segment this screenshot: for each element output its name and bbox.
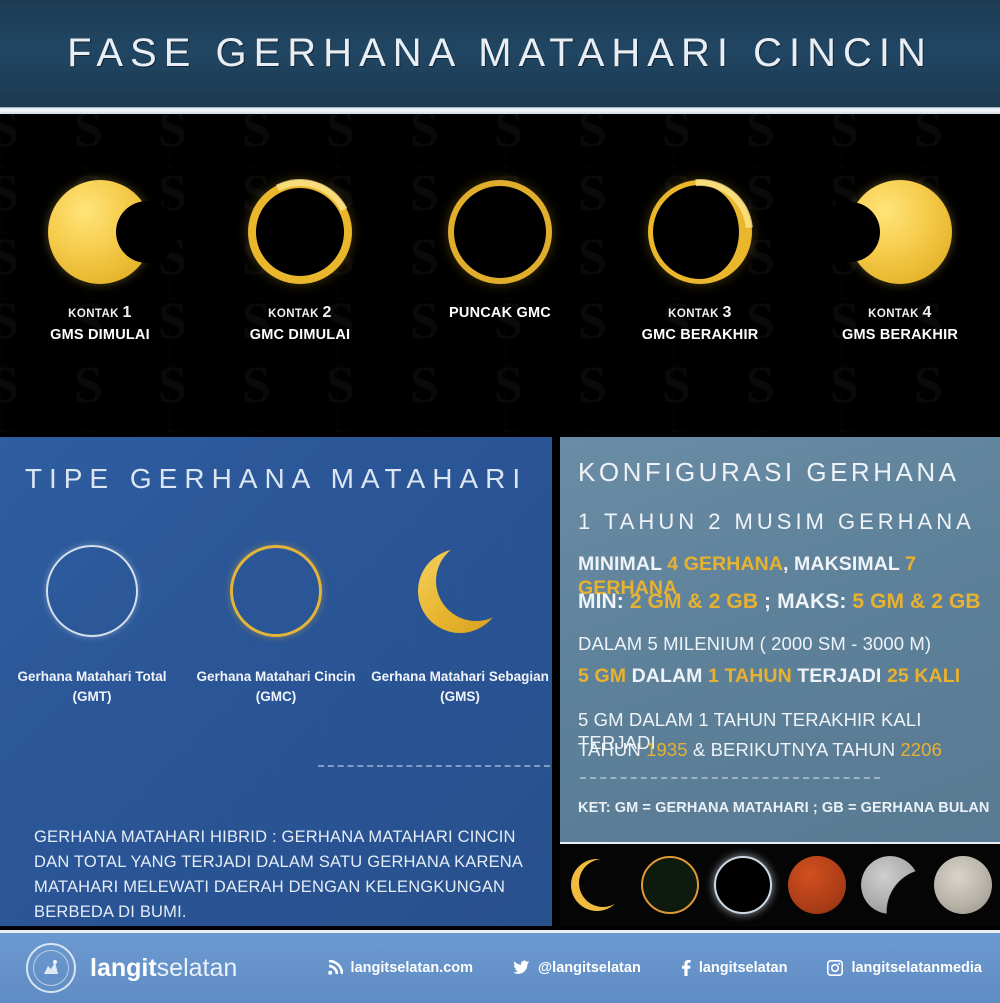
header-bar: FASE GERHANA MATAHARI CINCIN [0, 0, 1000, 108]
legend-note: KET: GM = GERHANA MATAHARI ; GB = GERHAN… [578, 800, 990, 816]
total-corona-ring-icon [46, 545, 138, 637]
type-item-partial: Gerhana Matahari Sebagian (GMS) [368, 545, 552, 706]
phase-kontak-number: 1 [123, 304, 132, 321]
type-abbr: (GMT) [17, 687, 166, 707]
instagram-icon [827, 960, 843, 976]
highlight-max-types: 5 GM & 2 GB [852, 590, 980, 613]
langitselatan-seal-logo [26, 943, 76, 993]
annular-gold-ring-icon [230, 545, 322, 637]
types-panel-title: TIPE GERHANA MATAHARI [0, 463, 552, 495]
phase-item-3: PUNCAK GMC [400, 114, 600, 324]
phase-row: KONTAK 1 GMS DIMULAI KONTAK 2 GMC DIMULA… [0, 114, 1000, 432]
config-line-min-max-types: MIN: 2 GM & 2 GB ; MAKS: 5 GM & 2 GB [578, 589, 990, 615]
types-row: Gerhana Matahari Total (GMT) Gerhana Mat… [0, 545, 552, 706]
type-label: Gerhana Matahari Sebagian (GMS) [371, 667, 549, 706]
phase-item-5: KONTAK 4 GMS BERAKHIR [800, 114, 1000, 345]
config-subtitle: 1 TAHUN 2 MUSIM GERHANA [578, 509, 975, 535]
phase-kontak-label: KONTAK [268, 308, 319, 320]
type-label: Gerhana Matahari Cincin (GMC) [196, 667, 355, 706]
photo-partial-lunar-eclipse [853, 844, 926, 926]
phase-item-4: KONTAK 3 GMC BERAKHIR [600, 114, 800, 345]
hybrid-description: GERHANA MATAHARI HIBRID : GERHANA MATAHA… [34, 825, 524, 925]
social-label: langitselatanmedia [851, 960, 982, 976]
config-line-millennium: DALAM 5 MILENIUM ( 2000 SM - 3000 M) [578, 633, 990, 656]
left-panel-divider [318, 765, 550, 767]
phase-item-1: KONTAK 1 GMS DIMULAI [0, 114, 200, 345]
type-abbr: (GMC) [196, 687, 355, 707]
social-label: langitselatan [699, 960, 788, 976]
partial-crescent-icon [414, 545, 506, 637]
twitter-icon [513, 960, 530, 976]
infographic-root: FASE GERHANA MATAHARI CINCIN SSSSSSSSSSS… [0, 0, 1000, 1000]
type-name: Gerhana Matahari Total [17, 667, 166, 687]
type-item-total: Gerhana Matahari Total (GMT) [0, 545, 184, 706]
type-item-annular: Gerhana Matahari Cincin (GMC) [184, 545, 368, 706]
phase-desc: GMS DIMULAI [50, 326, 150, 346]
phase-desc: GMC BERAKHIR [642, 326, 759, 346]
social-website[interactable]: langitselatan.com [327, 960, 473, 976]
phase-kontak-label: KONTAK [668, 308, 719, 320]
sun-bite-right-icon [48, 180, 152, 284]
phase-item-2: KONTAK 2 GMC DIMULAI [200, 114, 400, 345]
ring-thick-right-icon [248, 180, 352, 284]
brand-wordmark: langitselatan [90, 954, 237, 983]
phase-caption: KONTAK 2 GMC DIMULAI [250, 302, 350, 345]
phase-desc: GMS BERAKHIR [842, 326, 958, 346]
phase-caption: KONTAK 4 GMS BERAKHIR [842, 302, 958, 345]
type-label: Gerhana Matahari Total (GMT) [17, 667, 166, 706]
phase-kontak-label: KONTAK [868, 308, 919, 320]
social-facebook[interactable]: langitselatan [681, 960, 788, 976]
sun-bite-left-icon [848, 180, 952, 284]
photo-full-moon [927, 844, 1000, 926]
phase-caption: KONTAK 1 GMS DIMULAI [50, 302, 150, 345]
eclipse-phases-section: SSSSSSSSSSSSSSSSSSSSSSSSSSSSSSSSSSSSSSSS… [0, 114, 1000, 432]
phase-kontak-number: 3 [723, 304, 732, 321]
social-twitter[interactable]: @langitselatan [513, 960, 641, 976]
photo-total-eclipse-corona [707, 844, 780, 926]
social-links: langitselatan.com @langitselatan langits… [287, 960, 982, 976]
highlight-min-types: 2 GM & 2 GB [630, 590, 758, 613]
eclipse-types-panel: TIPE GERHANA MATAHARI Gerhana Matahari T… [0, 437, 552, 926]
photo-blood-moon [780, 844, 853, 926]
config-line-5gm-frequency: 5 GM DALAM 1 TAHUN TERJADI 25 KALI [578, 665, 990, 689]
ring-thick-right2-icon [648, 180, 752, 284]
phase-kontak-label: KONTAK [68, 308, 119, 320]
page-title: FASE GERHANA MATAHARI CINCIN [67, 31, 933, 76]
highlight-5gm: 5 GM [578, 665, 626, 687]
highlight-year-2206: 2206 [900, 739, 942, 760]
social-instagram[interactable]: langitselatanmedia [827, 960, 982, 976]
eclipse-photo-strip [560, 842, 1000, 926]
brand-light: selatan [157, 954, 238, 982]
type-abbr: (GMS) [371, 687, 549, 707]
social-label: @langitselatan [538, 960, 641, 976]
phase-desc: GMC DIMULAI [250, 326, 350, 346]
brand-bold: langit [90, 954, 157, 982]
highlight-25kali: 25 KALI [887, 665, 960, 687]
photo-annular-ring [633, 844, 706, 926]
photo-annular-crescent [560, 844, 633, 926]
facebook-icon [681, 960, 691, 976]
ring-even-icon [448, 180, 552, 284]
highlight-year-1935: 1935 [646, 739, 688, 760]
phase-kontak-number: 4 [923, 304, 932, 321]
phase-caption: PUNCAK GMC [449, 302, 551, 324]
config-panel-title: KONFIGURASI GERHANA [578, 457, 959, 488]
footer-bar: langitselatan langitselatan.com @langits… [0, 930, 1000, 1003]
eclipse-configuration-panel: KONFIGURASI GERHANA 1 TAHUN 2 MUSIM GERH… [560, 437, 1000, 926]
rss-icon [327, 960, 343, 976]
phase-kontak-number: 2 [323, 304, 332, 321]
highlight-min-eclipses: 4 GERHANA [667, 553, 783, 575]
type-name: Gerhana Matahari Sebagian [371, 667, 549, 687]
config-line-years: TAHUN 1935 & BERIKUTNYA TAHUN 2206 [578, 739, 990, 762]
config-divider [580, 777, 880, 779]
type-name: Gerhana Matahari Cincin [196, 667, 355, 687]
phase-caption: KONTAK 3 GMC BERAKHIR [642, 302, 759, 345]
highlight-1tahun: 1 TAHUN [708, 665, 792, 687]
social-label: langitselatan.com [351, 960, 473, 976]
phase-desc: PUNCAK GMC [449, 304, 551, 324]
